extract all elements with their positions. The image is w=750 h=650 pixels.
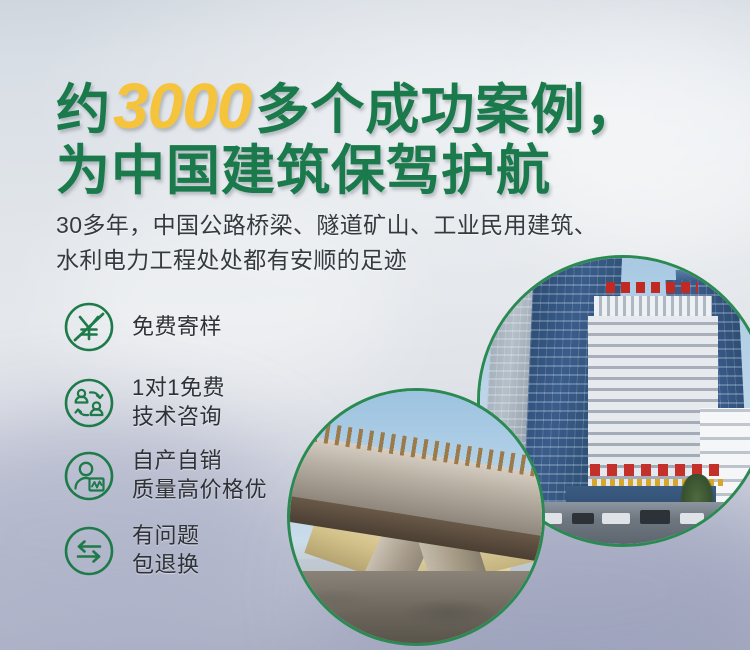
car: [572, 513, 594, 524]
one-on-one-consult-icon: [62, 376, 116, 430]
feature-list: 免费寄样 1对1免费 技术咨询: [62, 300, 267, 596]
car: [680, 513, 704, 524]
feature-label: 有问题 包退换: [132, 522, 200, 579]
return-exchange-icon: [62, 524, 116, 578]
headline-suffix: 多个成功案例，: [255, 80, 640, 140]
self-produce-sell-icon: [62, 449, 116, 503]
feature-label: 免费寄样: [132, 313, 222, 342]
car: [602, 513, 630, 524]
headline-number: 3000: [111, 70, 255, 142]
feature-item-one-on-one-consult: 1对1免费 技术咨询: [62, 374, 267, 431]
bridge-photo: [287, 388, 545, 646]
headline-line-1: 约3000多个成功案例，: [56, 74, 640, 138]
headline: 约3000多个成功案例， 为中国建筑保驾护航: [56, 74, 640, 198]
ground-rubble: [287, 571, 545, 646]
feature-label: 1对1免费 技术咨询: [132, 374, 225, 431]
headline-line-2: 为中国建筑保驾护航: [56, 144, 640, 198]
bridge-photo-scene: [290, 391, 542, 643]
subtitle: 30多年，中国公路桥梁、隧道矿山、工业民用建筑、 水利电力工程处处都有安顺的足迹: [56, 208, 597, 278]
subtitle-line-1: 30多年，中国公路桥梁、隧道矿山、工业民用建筑、: [56, 208, 597, 243]
free-sample-icon: [62, 300, 116, 354]
promo-banner: 约3000多个成功案例， 为中国建筑保驾护航 30多年，中国公路桥梁、隧道矿山、…: [0, 0, 750, 650]
feature-item-return-exchange: 有问题 包退换: [62, 522, 267, 579]
feature-label: 自产自销 质量高价格优: [132, 447, 267, 504]
feature-item-free-sample: 免费寄样: [62, 300, 267, 354]
feature-item-self-produce-sell: 自产自销 质量高价格优: [62, 447, 267, 504]
car: [640, 510, 670, 524]
rooftop-sign: [606, 282, 698, 293]
subtitle-line-2: 水利电力工程处处都有安顺的足迹: [56, 243, 597, 278]
headline-prefix: 约: [56, 80, 111, 140]
facade-sign: [590, 464, 724, 476]
